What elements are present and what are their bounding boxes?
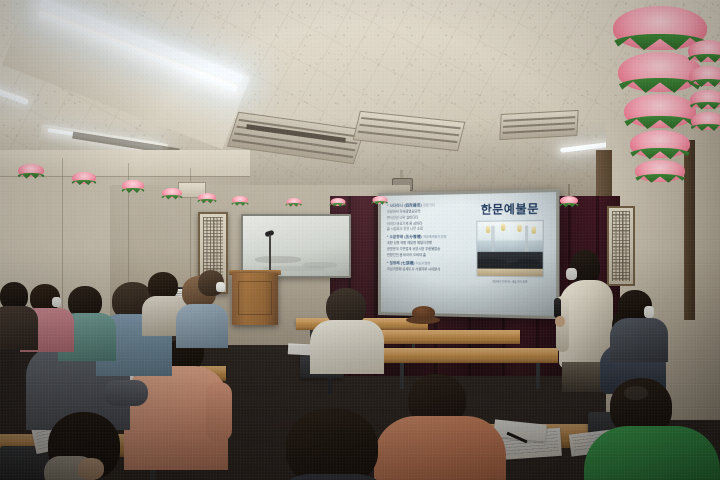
ac-vent-far-right [499,110,578,140]
attendee-back-left-body [0,306,38,350]
slide-s3-title: * 칠정례 (七頂禮) [387,261,415,265]
slide-s3-sub: 지심귀명례 [416,261,431,265]
hat-on-desk [412,306,435,319]
attendee-white-body [310,320,384,374]
slide-title: 한문예불문 [481,200,539,218]
presentation-slide: * 사다라니 (四陀羅尼) 진언가지 무량위덕 자재광명승묘력 변식진언 나막 … [381,192,556,316]
calligraphy-banner-right [607,206,635,286]
desk-edge-mid-right [382,358,558,363]
lotus-lantern-6 [232,196,248,209]
slide-title-column: 한문예불문 법당에서 진행되는 예불 의식 장면 [471,198,549,311]
lotus-lantern-7 [286,198,301,210]
lotus-lantern-10 [560,196,578,210]
desk-frame-mid-1 [400,363,404,389]
screen-surface: * 사다라니 (四陀羅尼) 진언가지 무량위덕 자재광명승묘력 변식진언 나막 … [381,192,556,316]
desk-frame-mid-2 [536,363,540,389]
attendee-center-back-body [176,304,228,348]
lotus-lantern-8 [330,198,345,210]
lotus-lantern-3 [122,180,144,196]
wall-seam-1 [62,158,63,308]
attendee-right-back-mask [216,282,225,292]
far-right-mask [644,306,654,318]
presenter-mask [566,268,577,280]
attendee-pink-mask [52,297,61,307]
slide-section-3: * 칠정례 (七頂禮) 지심귀명례 지심귀명례 삼계도사 사생자부 시아본사 [387,261,467,272]
lotus-lantern-2 [72,172,96,189]
slide-text-column: * 사다라니 (四陀羅尼) 진언가지 무량위덕 자재광명승묘력 변식진언 나막 … [387,199,467,309]
slide-section-3-heading: * 칠정례 (七頂禮) 지심귀명례 [387,261,467,266]
slide-s2-sub: 계정혜해탈지견향 [423,235,447,239]
notetaker-hand [78,458,104,480]
photo-scene: * 사다라니 (四陀羅尼) 진언가지 무량위덕 자재광명승묘력 변식진언 나막 … [0,0,720,480]
slide-s3-line-1: 지심귀명례 삼계도사 사생자부 시아본사 [387,267,467,272]
attendee-coral-body [374,416,506,480]
far-right-body [610,318,668,362]
slide-section-2-heading: * 오분향례 (五分香禮) 계정혜해탈지견향 [387,235,467,241]
slide-s1-line-3: 아아다 바로기제 옴 삼바라 [387,221,467,227]
slide-s2-line-2: 광명운대 주변법계 공양시방 무량불법승 [387,247,467,252]
slide-photo [476,220,543,277]
slide-photo-caption: 법당에서 진행되는 예불 의식 장면 [492,279,527,284]
presenter-hand [555,316,565,327]
slide-section-1: * 사다라니 (四陀羅尼) 진언가지 무량위덕 자재광명승묘력 변식진언 나막 … [387,202,467,232]
calligraphy-banner-right-text [612,211,630,281]
lotus-lantern-5 [198,193,216,207]
lotus-lantern-column-secondary [688,40,720,160]
slide-s2-title: * 오분향례 (五分香禮) [387,235,422,239]
podium [232,273,278,325]
slide-s1-line-2: 변식진언 나막 살바다타 [387,215,467,221]
desk-row-mid-right [382,348,558,358]
slide-s1-line-4: 훔 시감로수 진언 나무 소로 [387,226,467,232]
attendee-grey-arm [104,380,148,406]
slide-s1-title: * 사다라니 (四陀羅尼) [387,203,422,208]
desk-row-back-2 [370,330,520,339]
attendee-peach-arm [206,382,232,442]
podium-panel [238,281,272,315]
chair-leg-2 [328,378,332,394]
whiteboard [241,214,351,278]
projection-screen: * 사다라니 (四陀羅尼) 진언가지 무량위덕 자재광명승묘력 변식진언 나막 … [378,189,560,319]
slide-s1-sub: 진언가지 [423,203,435,207]
lotus-lantern-1 [18,164,44,182]
slide-s2-line-1: 계향 정향 혜향 해탈향 해탈지견향 [387,241,467,246]
presenter-microphone [554,298,561,318]
desk-edge-back-2 [370,339,520,344]
front-center-head [286,408,378,480]
slide-section-2: * 오분향례 (五分香禮) 계정혜해탈지견향 계향 정향 혜향 해탈향 해탈지견… [387,235,467,258]
slide-s2-line-3: 헌향진언 옴 바아라 도비야 훔 [387,253,467,258]
attendee-green-body [584,426,720,480]
lotus-lantern-4 [162,188,182,203]
lotus-lantern-9 [372,196,387,208]
